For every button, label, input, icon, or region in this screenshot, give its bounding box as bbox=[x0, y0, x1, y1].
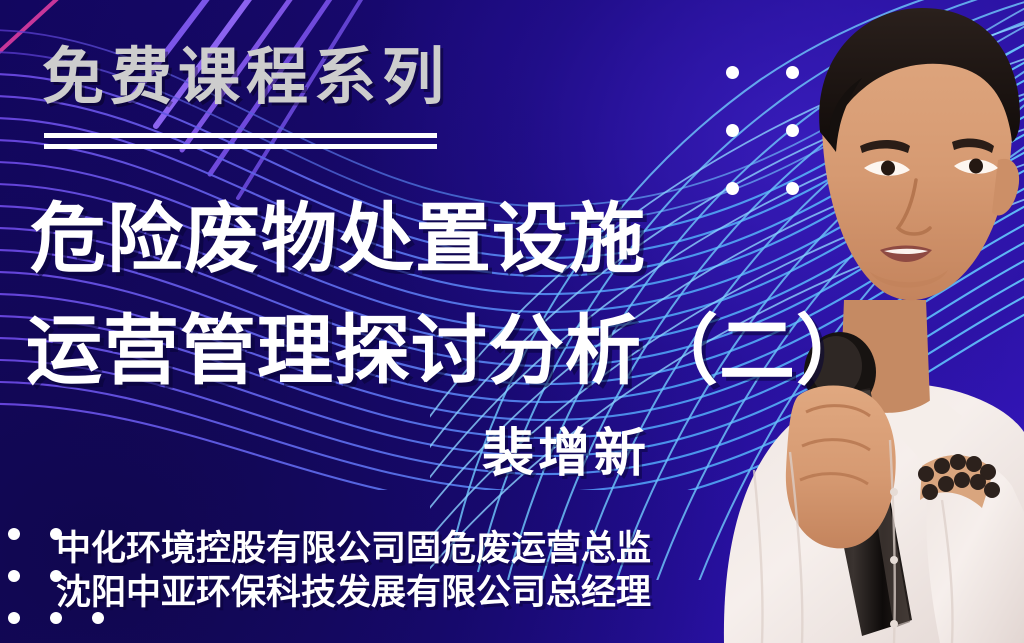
speaker-name: 裴增新 bbox=[0, 428, 650, 480]
speaker-credential-line-1: 中化环境控股有限公司固危废运营总监 bbox=[56, 531, 651, 566]
page-title-line-1: 危险废物处置设施 bbox=[30, 201, 646, 277]
page-title-line-2: 运营管理探讨分析（二） bbox=[26, 313, 873, 389]
course-promo-poster: 免费课程系列 危险废物处置设施 运营管理探讨分析（二） 裴增新 中化环境控股有限… bbox=[0, 0, 1024, 643]
divider-line-top bbox=[44, 133, 437, 138]
divider-line-bottom bbox=[44, 144, 437, 149]
speaker-credential-line-2: 沈阳中亚环保科技发展有限公司总经理 bbox=[56, 575, 651, 610]
eyebrow-heading: 免费课程系列 bbox=[42, 46, 450, 108]
